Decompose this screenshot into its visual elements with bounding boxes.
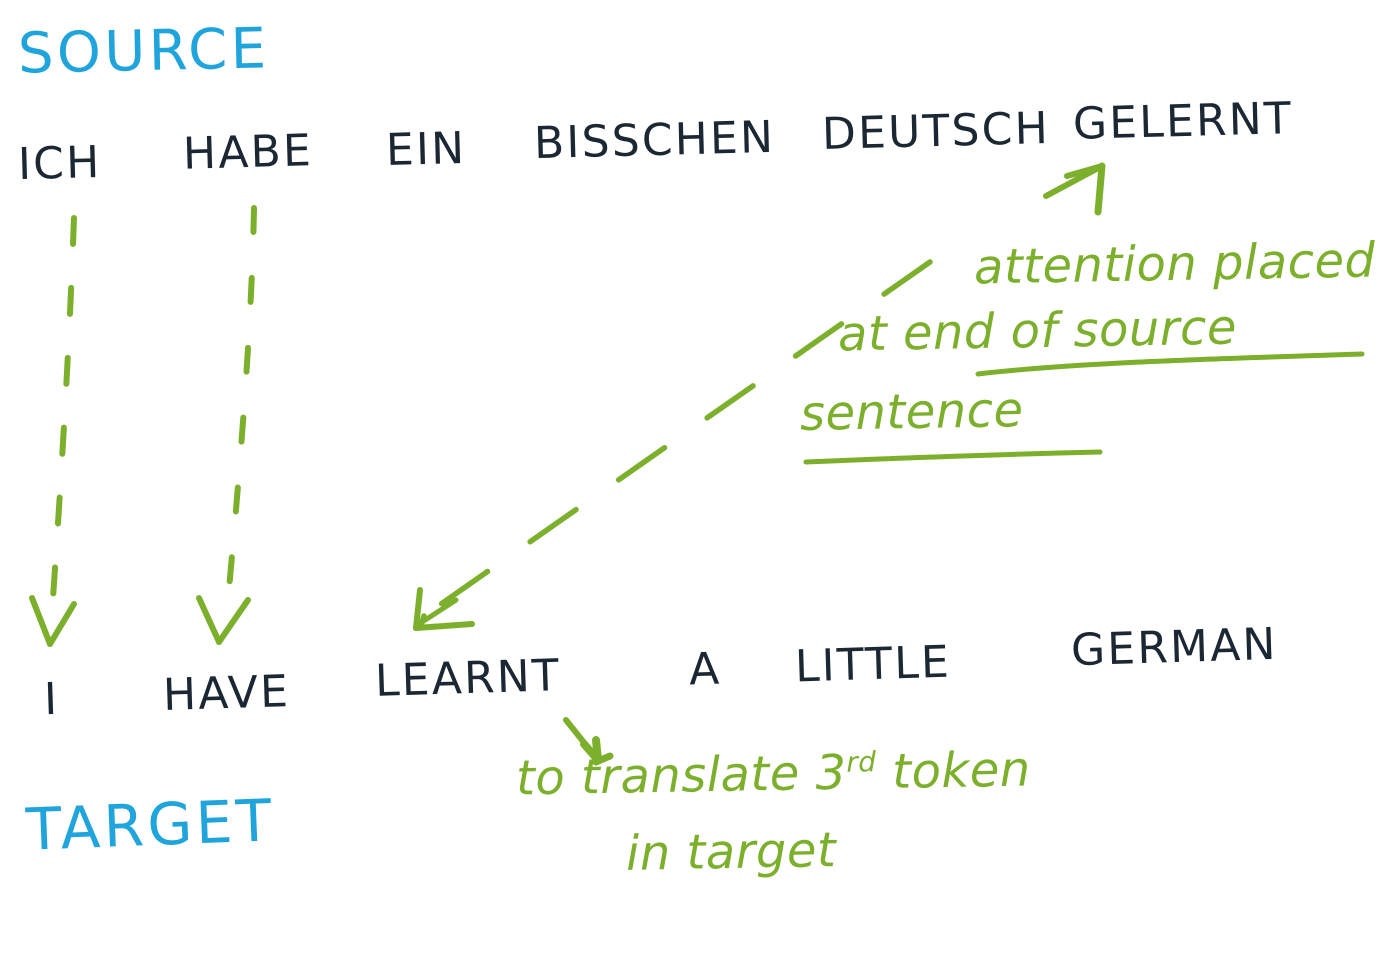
source-token-3: EIN xyxy=(385,127,466,173)
translate-note-suffix: token xyxy=(876,742,1031,801)
source-token-2: HABE xyxy=(182,129,313,177)
source-token-6: GELERNT xyxy=(1072,97,1293,147)
translate-note-prefix: to translate 3 xyxy=(516,745,847,807)
target-label: TARGET xyxy=(25,791,276,859)
attention-note-line-1: attention placed xyxy=(974,236,1376,291)
source-token-1: ICH xyxy=(17,141,102,187)
underline-sentence xyxy=(806,452,1100,462)
translate-note-line-1: to translate 3rd token xyxy=(516,746,1031,803)
source-label: SOURCE xyxy=(17,21,270,82)
attention-note-line-3: sentence xyxy=(800,386,1024,438)
target-token-5: LITTLE xyxy=(794,641,951,690)
attention-note-line-2: at end of source xyxy=(838,304,1238,359)
target-token-6: GERMAN xyxy=(1070,623,1278,673)
dashed-arrow-down-ich xyxy=(32,218,74,644)
source-token-4: BISSCHEN xyxy=(533,116,775,166)
source-token-5: DEUTSCH xyxy=(821,107,1050,157)
translate-note-ordinal-suffix: rd xyxy=(846,745,877,779)
target-token-3: LEARNT xyxy=(374,654,561,704)
arrow-up-to-gelernt xyxy=(1046,166,1102,212)
target-token-2: HAVE xyxy=(162,670,290,718)
translate-note-line-2: in target xyxy=(626,826,837,878)
dashed-arrow-down-habe xyxy=(199,208,254,642)
target-token-4: A xyxy=(688,648,722,693)
target-token-1: I xyxy=(43,678,60,722)
whiteboard-canvas: SOURCE TARGET ICH HABE EIN BISSCHEN DEUT… xyxy=(0,0,1384,958)
